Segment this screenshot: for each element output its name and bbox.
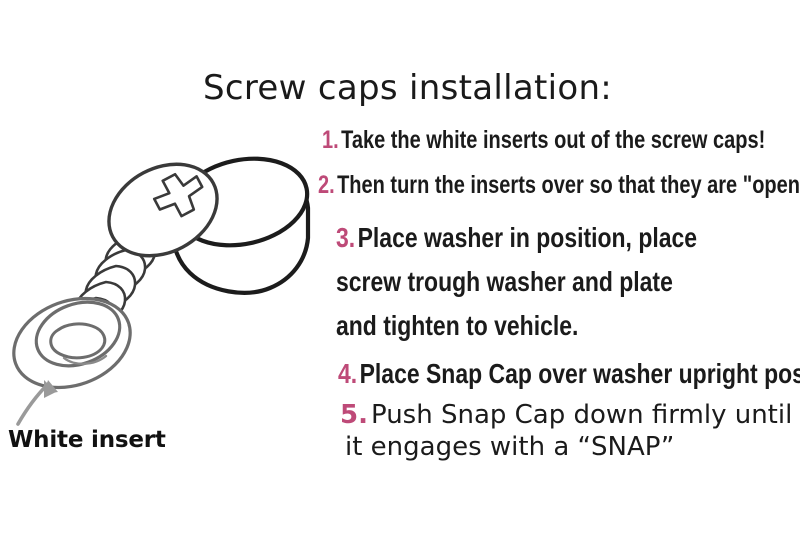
step-1-number: 1. [322, 126, 339, 154]
step-5: 5.Push Snap Cap down firmly until [340, 400, 792, 430]
step-2: 2.Then turn the inserts over so that the… [318, 171, 800, 200]
step-3-text-line-3: and tighten to vehicle. [336, 310, 578, 341]
step-4: 4.Place Snap Cap over washer upright pos… [338, 358, 800, 390]
step-1-text: Take the white inserts out of the screw … [341, 126, 765, 154]
step-3-number: 3. [336, 222, 355, 253]
step-5-text-line-2: it engages with a “SNAP” [345, 432, 674, 462]
white-insert-label: White insert [8, 427, 166, 453]
step-4-number: 4. [338, 358, 357, 389]
step-2-number: 2. [318, 171, 335, 199]
page-title: Screw caps installation: [203, 68, 612, 108]
step-3: 3.Place washer in position, place [336, 222, 697, 254]
step-3-text-line-1: Place washer in position, place [358, 222, 697, 253]
step-3-line-2: screw trough washer and plate [336, 266, 673, 298]
instruction-sheet: White insert Screw caps installation: 1.… [0, 0, 800, 535]
step-2-text: Then turn the inserts over so that they … [337, 171, 800, 199]
callout-arrow-icon [16, 380, 58, 426]
step-3-text-line-2: screw trough washer and plate [336, 266, 673, 297]
step-1: 1.Take the white inserts out of the scre… [322, 126, 765, 155]
illustration-svg [0, 130, 340, 430]
step-5-line-2: it engages with a “SNAP” [345, 432, 674, 462]
step-5-number: 5. [340, 400, 368, 430]
step-5-text-line-1: Push Snap Cap down firmly until [371, 400, 792, 430]
step-4-text: Place Snap Cap over washer upright posit… [360, 358, 800, 389]
screw-cap-illustration [0, 130, 340, 430]
step-3-line-3: and tighten to vehicle. [336, 310, 578, 342]
